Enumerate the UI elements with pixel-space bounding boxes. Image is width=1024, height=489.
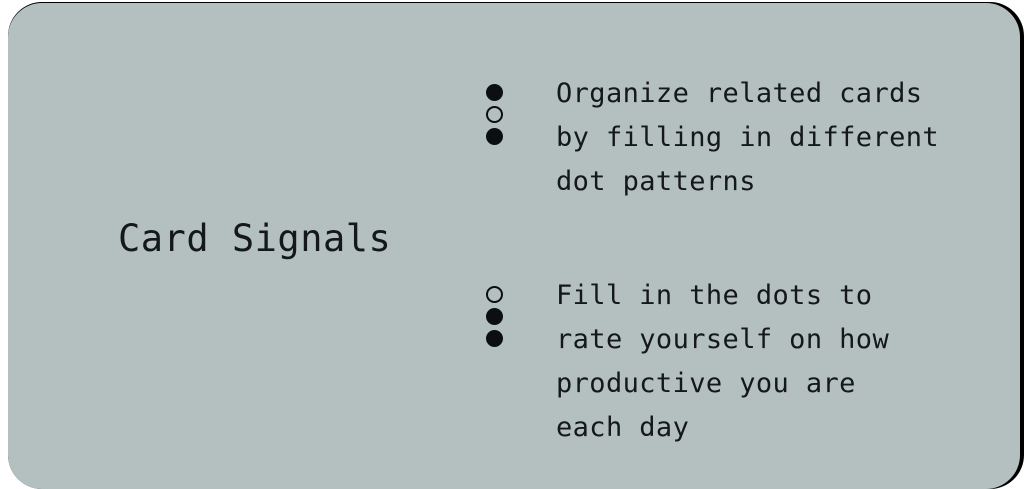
dot-stack	[486, 273, 556, 352]
signal-groups-list: Organize related cards by filling in dif…	[486, 71, 956, 450]
screenshot-root: Card Signals Organize related cards by f…	[0, 0, 1024, 489]
signal-dot-hollow-icon[interactable]	[486, 286, 503, 303]
signal-dot-filled-icon[interactable]	[486, 84, 503, 101]
page-title: Card Signals	[118, 217, 391, 261]
signal-group: Fill in the dots to rate yourself on how…	[486, 273, 956, 450]
signal-dot-filled-icon[interactable]	[486, 128, 503, 145]
signal-dot-hollow-icon[interactable]	[486, 106, 503, 123]
signal-group: Organize related cards by filling in dif…	[486, 71, 956, 204]
card-signals-card: Card Signals Organize related cards by f…	[8, 3, 1020, 489]
dot-stack	[486, 71, 556, 150]
signal-dot-filled-icon[interactable]	[486, 308, 503, 325]
signal-group-text: Organize related cards by filling in dif…	[556, 71, 956, 204]
signal-dot-filled-icon[interactable]	[486, 330, 503, 347]
signal-group-text: Fill in the dots to rate yourself on how…	[556, 273, 956, 450]
